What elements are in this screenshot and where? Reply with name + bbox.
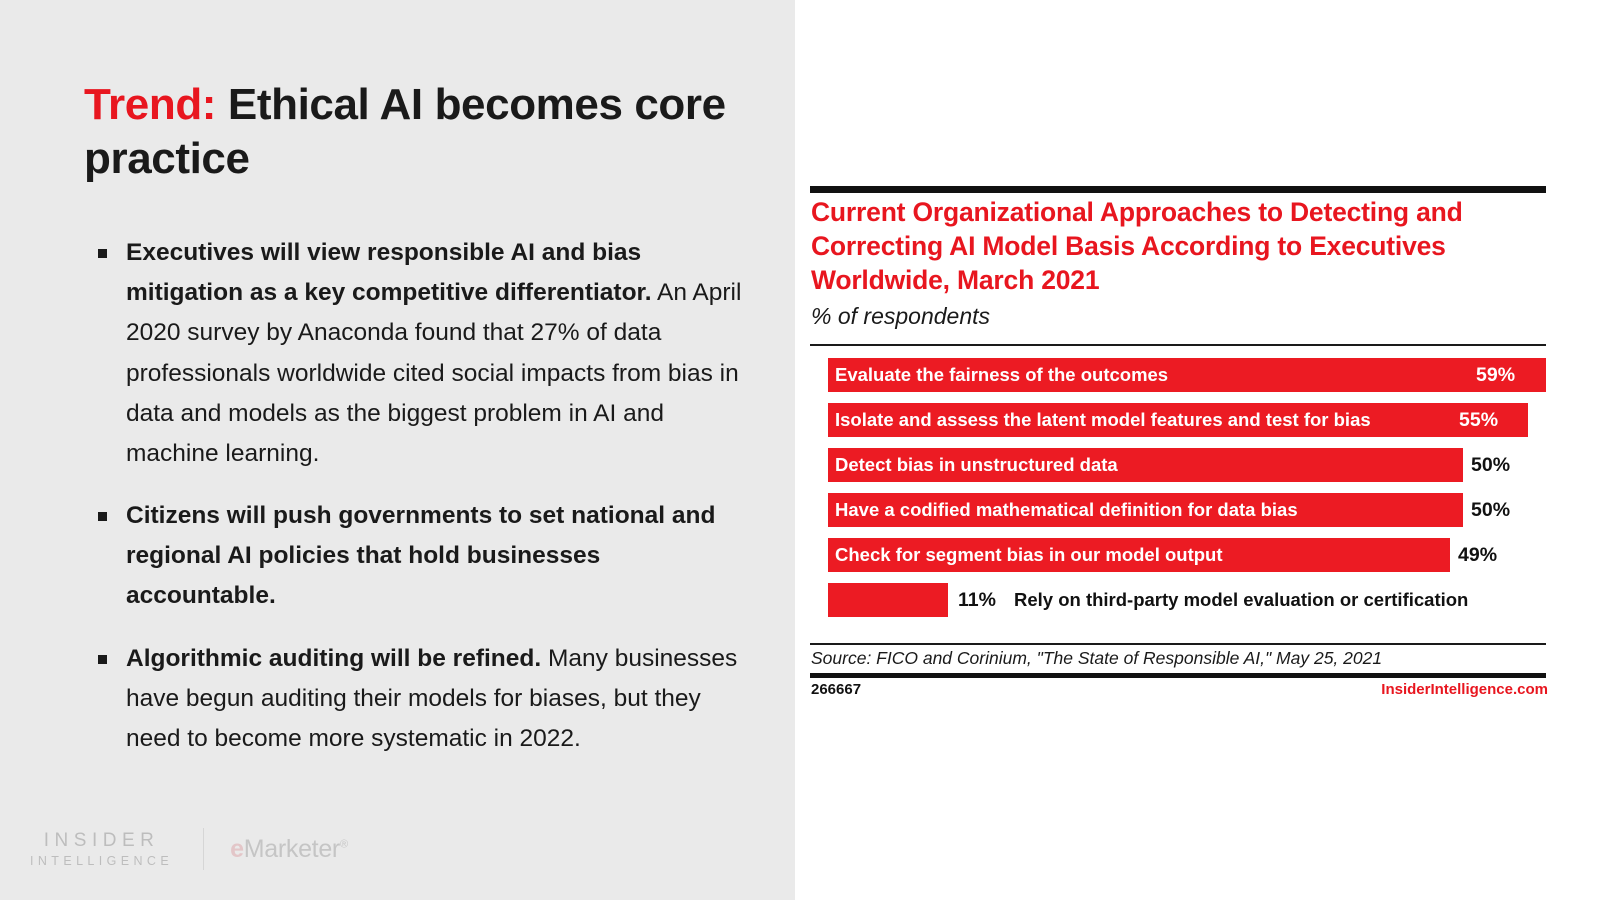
table-row: Evaluate the fairness of the outcomes 59…	[810, 358, 1546, 392]
table-row: Detect bias in unstructured data 50%	[810, 448, 1546, 482]
bullet-lead: Executives will view responsible AI and …	[126, 239, 652, 306]
table-row: Isolate and assess the latent model feat…	[810, 403, 1546, 437]
list-item: Citizens will push governments to set na…	[84, 496, 749, 617]
source-top-rule	[810, 643, 1546, 645]
left-content-panel: Trend: Ethical AI becomes core practice …	[0, 0, 795, 900]
chart-subtitle: % of respondents	[811, 303, 990, 330]
table-row: Check for segment bias in our model outp…	[810, 538, 1546, 572]
chart-id: 266667	[811, 681, 861, 698]
chart-site-link[interactable]: InsiderIntelligence.com	[1381, 681, 1548, 698]
bullet-lead: Citizens will push governments to set na…	[126, 502, 715, 609]
logo-line-insider: INSIDER	[44, 829, 160, 853]
chart-title: Current Organizational Approaches to Det…	[811, 196, 1531, 298]
bullet-rest: An April 2020 survey by Anaconda found t…	[126, 279, 741, 467]
bar-fill	[828, 583, 948, 617]
bar-value-label: 49%	[1458, 538, 1497, 572]
bar-category-label: Isolate and assess the latent model feat…	[835, 403, 1371, 437]
logo-line-intelligence: INTELLIGENCE	[30, 853, 173, 869]
registered-mark-icon: ®	[340, 838, 348, 850]
bullet-square-icon	[98, 655, 107, 664]
list-item: Algorithmic auditing will be refined. Ma…	[84, 639, 749, 760]
emarketer-word: Marketer	[244, 835, 340, 863]
chart-source: Source: FICO and Corinium, "The State of…	[811, 648, 1382, 669]
source-bottom-rule	[810, 673, 1546, 678]
bar-value-label: 55%	[1459, 403, 1498, 437]
headline-accent: Trend:	[84, 80, 216, 129]
bar-category-label: Check for segment bias in our model outp…	[835, 538, 1223, 572]
table-row: Have a codified mathematical definition …	[810, 493, 1546, 527]
bar-value-label: 11%	[958, 583, 996, 617]
chart-header-divider	[810, 344, 1546, 346]
bar-value-label: 50%	[1471, 448, 1510, 482]
list-item: Executives will view responsible AI and …	[84, 233, 749, 474]
bar-value-label: 59%	[1476, 358, 1515, 392]
bullet-list: Executives will view responsible AI and …	[84, 233, 749, 781]
bullet-square-icon	[98, 249, 107, 258]
brand-logo: INSIDER INTELLIGENCE eMarketer®	[30, 828, 348, 870]
table-row: 11% Rely on third-party model evaluation…	[810, 583, 1546, 617]
bar-category-label: Evaluate the fairness of the outcomes	[835, 358, 1168, 392]
slide-root: Trend: Ethical AI becomes core practice …	[0, 0, 1600, 900]
bar-value-label: 50%	[1471, 493, 1510, 527]
insider-intelligence-logo: INSIDER INTELLIGENCE	[30, 829, 173, 869]
page-title: Trend: Ethical AI becomes core practice	[84, 78, 744, 185]
bullet-square-icon	[98, 512, 107, 521]
bar-category-label: Detect bias in unstructured data	[835, 448, 1118, 482]
bar-category-label: Rely on third-party model evaluation or …	[1014, 583, 1468, 617]
chart-top-rule	[810, 186, 1546, 193]
emarketer-e: e	[230, 835, 244, 863]
emarketer-logo: eMarketer®	[230, 835, 348, 864]
logo-divider	[203, 828, 204, 870]
bullet-lead: Algorithmic auditing will be refined.	[126, 645, 541, 672]
bar-chart: Evaluate the fairness of the outcomes 59…	[810, 358, 1546, 628]
chart-panel: Current Organizational Approaches to Det…	[810, 0, 1548, 900]
bar-category-label: Have a codified mathematical definition …	[835, 493, 1298, 527]
